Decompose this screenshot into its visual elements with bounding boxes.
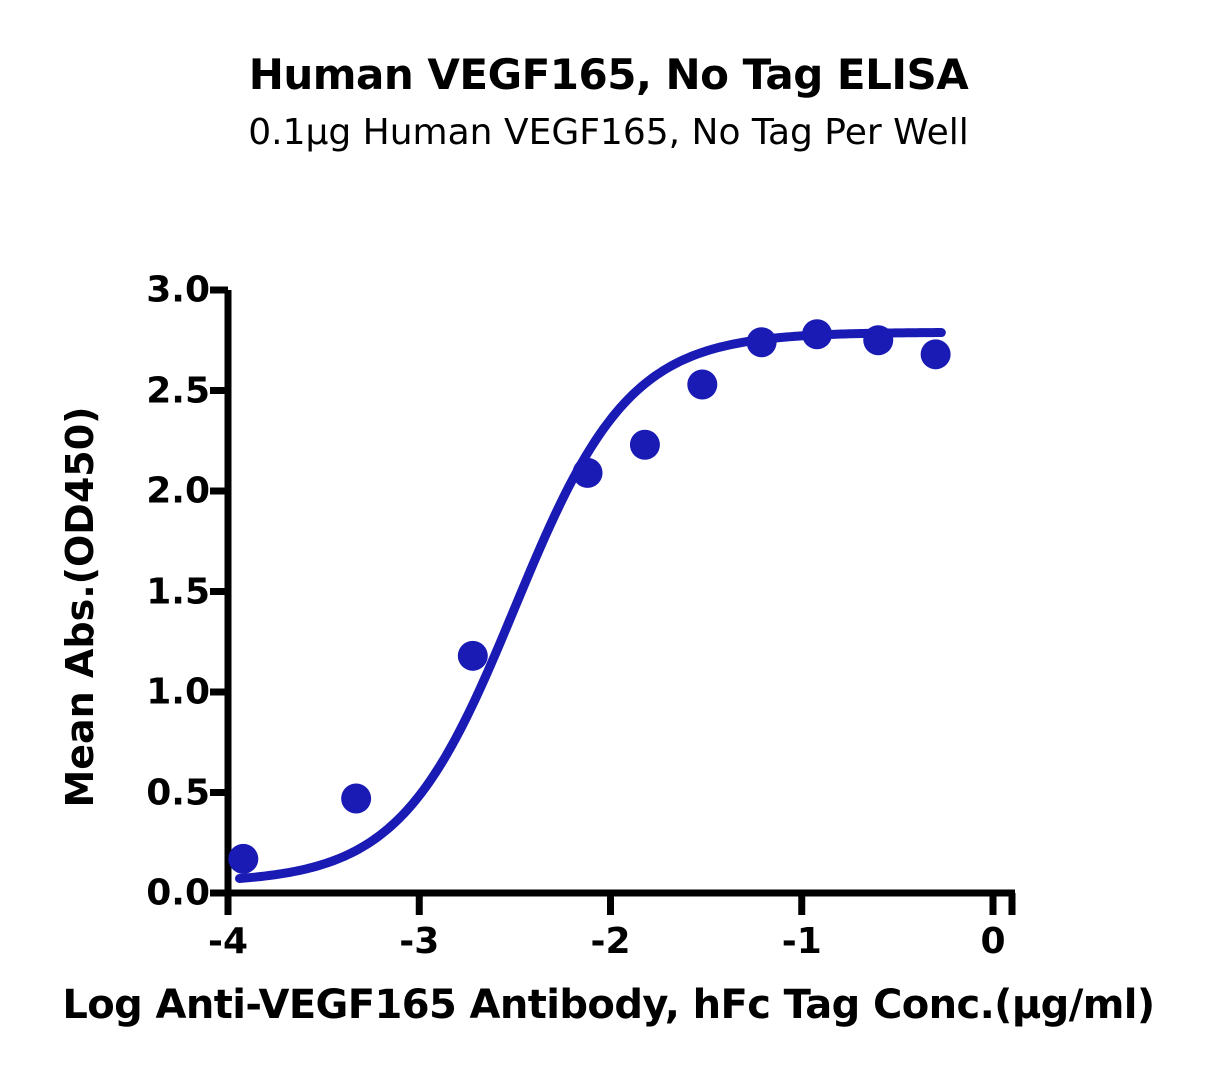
x-tick-label: 0 [980, 921, 1005, 962]
x-tick-label: -3 [399, 921, 439, 962]
data-points [228, 319, 950, 874]
y-tick-label: 3.0 [60, 270, 210, 311]
data-point-marker [630, 430, 660, 460]
y-tick-label: 2.0 [60, 471, 210, 512]
axes [210, 290, 1015, 915]
y-tick-label: 1.0 [60, 672, 210, 713]
x-tick-label: -1 [782, 921, 822, 962]
data-point-marker [687, 369, 717, 399]
data-point-marker [747, 327, 777, 357]
y-tick-label: 2.5 [60, 370, 210, 411]
data-point-marker [921, 339, 951, 369]
data-point-marker [228, 844, 258, 874]
data-point-marker [863, 325, 893, 355]
x-tick-label: -2 [591, 921, 631, 962]
x-tick-label: -4 [208, 921, 248, 962]
y-tick-label: 1.5 [60, 571, 210, 612]
data-point-marker [341, 784, 371, 814]
data-point-marker [802, 319, 832, 349]
y-tick-label: 0.0 [60, 873, 210, 914]
data-point-marker [573, 458, 603, 488]
data-point-marker [458, 641, 488, 671]
y-tick-label: 0.5 [60, 772, 210, 813]
elisa-binding-chart: Human VEGF165, No Tag ELISA 0.1μg Human … [0, 0, 1217, 1087]
